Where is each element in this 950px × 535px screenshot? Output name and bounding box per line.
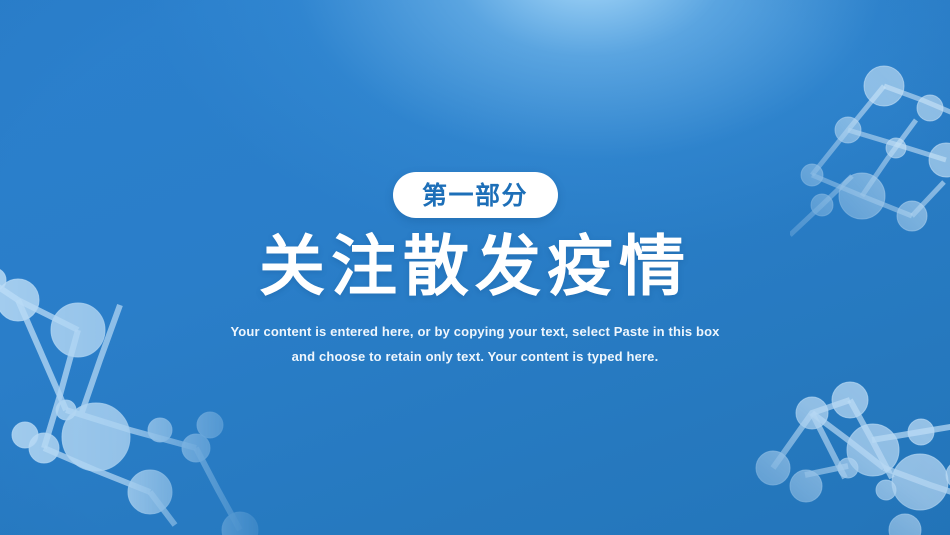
section-badge-label: 第一部分 (422, 183, 528, 208)
slide-content: 第一部分 关注散发疫情 Your content is entered here… (0, 0, 950, 369)
presentation-slide: 第一部分 关注散发疫情 Your content is entered here… (0, 0, 950, 535)
slide-title: 关注散发疫情 (259, 232, 691, 301)
section-badge: 第一部分 (393, 172, 558, 218)
slide-subtitle: Your content is entered here, or by copy… (225, 319, 725, 369)
